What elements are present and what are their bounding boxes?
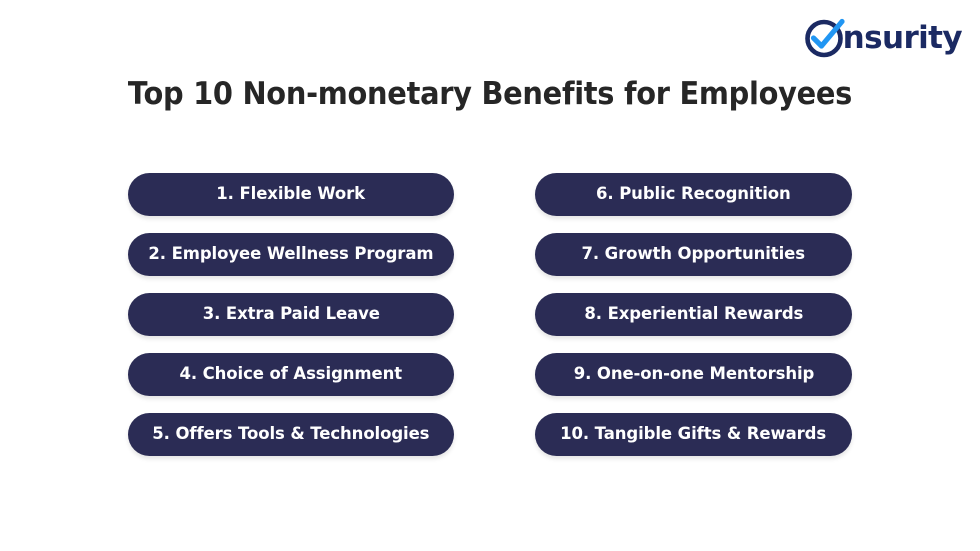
benefit-item-4[interactable]: 4. Choice of Assignment [128, 353, 454, 396]
benefit-item-10[interactable]: 10. Tangible Gifts & Rewards [535, 413, 852, 456]
benefit-item-7[interactable]: 7. Growth Opportunities [535, 233, 852, 276]
benefit-label: 7. Growth Opportunities [582, 246, 805, 263]
benefit-label: 3. Extra Paid Leave [202, 306, 379, 323]
benefit-item-5[interactable]: 5. Offers Tools & Technologies [128, 413, 454, 456]
benefits-left-column: 1. Flexible Work 2. Employee Wellness Pr… [128, 173, 454, 456]
benefit-label: 10. Tangible Gifts & Rewards [561, 426, 827, 443]
benefit-item-8[interactable]: 8. Experiential Rewards [535, 293, 852, 336]
page-title: Top 10 Non-monetary Benefits for Employe… [34, 76, 945, 112]
benefit-label: 1. Flexible Work [217, 186, 366, 203]
brand-logo: nsurity [802, 14, 962, 60]
benefit-label: 6. Public Recognition [596, 186, 791, 203]
benefit-item-1[interactable]: 1. Flexible Work [128, 173, 454, 216]
benefits-list: 1. Flexible Work 2. Employee Wellness Pr… [0, 173, 980, 456]
benefits-right-column: 6. Public Recognition 7. Growth Opportun… [535, 173, 852, 456]
benefit-item-6[interactable]: 6. Public Recognition [535, 173, 852, 216]
benefit-label: 8. Experiential Rewards [584, 306, 803, 323]
benefit-item-3[interactable]: 3. Extra Paid Leave [128, 293, 454, 336]
benefit-label: 5. Offers Tools & Technologies [152, 426, 429, 443]
benefit-label: 2. Employee Wellness Program [148, 246, 433, 263]
benefit-item-2[interactable]: 2. Employee Wellness Program [128, 233, 454, 276]
benefit-item-9[interactable]: 9. One-on-one Mentorship [535, 353, 852, 396]
onsurity-check-circle-icon [802, 15, 846, 59]
benefit-label: 9. One-on-one Mentorship [573, 366, 814, 383]
benefit-label: 4. Choice of Assignment [180, 366, 403, 383]
brand-wordmark: nsurity [843, 23, 962, 54]
